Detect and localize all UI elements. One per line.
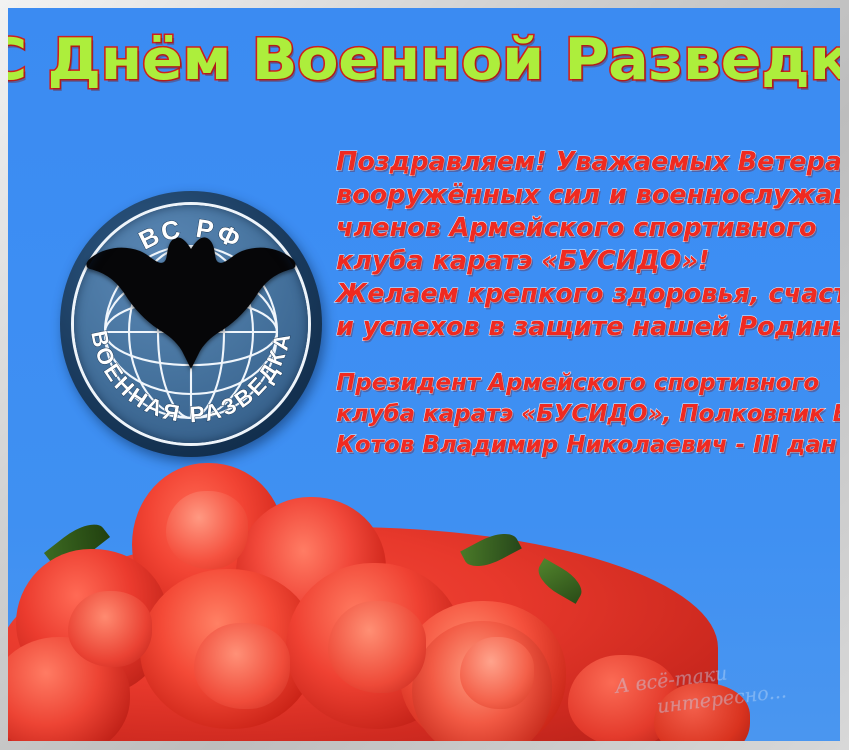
message-line: клуба каратэ «БУСИДО»!	[336, 245, 840, 278]
greeting-message: Поздравляем! Уважаемых Ветеранов вооружё…	[336, 146, 840, 461]
emblem-inner-shadow	[74, 205, 308, 443]
message-line: Желаем крепкого здоровья, счастья	[336, 278, 840, 311]
red-roses-bouquet	[8, 441, 840, 741]
message-line: и успехов в защите нашей Родины!	[336, 311, 840, 344]
page-title: С Днём Военной Разведки!	[8, 32, 840, 89]
military-intelligence-emblem: ВС РФ ВОЕННАЯ РАЗВЕДКА	[60, 191, 322, 457]
rose-petal	[194, 623, 290, 709]
greeting-card: С Днём Военной Разведки!	[0, 0, 849, 750]
message-line: вооружённых сил и военнослужащих -	[336, 179, 840, 212]
message-paragraph-1: Поздравляем! Уважаемых Ветеранов вооружё…	[336, 146, 840, 344]
signature-line: Президент Армейского спортивного	[336, 368, 840, 399]
card-canvas: С Днём Военной Разведки!	[8, 8, 840, 741]
signature-line: клуба каратэ «БУСИДО», Полковник ВС	[336, 399, 840, 430]
rose-petal	[68, 591, 152, 667]
message-line: членов Армейского спортивного	[336, 212, 840, 245]
rose-petal	[328, 601, 426, 693]
rose-petal	[460, 637, 534, 709]
rose-petal	[166, 491, 248, 569]
message-line: Поздравляем! Уважаемых Ветеранов	[336, 146, 840, 179]
